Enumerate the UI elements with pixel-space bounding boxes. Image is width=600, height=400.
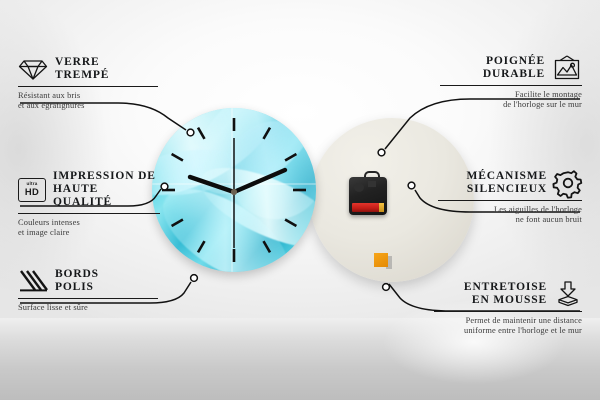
callout-desc-line2: de l'horloge sur le mur [440,100,582,110]
callout-title: IMPRESSION DE HAUTE QUALITÉ [53,170,160,209]
callout-divider [440,85,582,86]
callout-entretoise-en-mousse[interactable]: ENTRETOISE EN MOUSSE Permet de maintenir… [434,281,582,337]
callout-desc-line2: uniforme entre l'horloge et le mur [434,326,582,336]
callout-header: MÉCANISME SILENCIEUX [438,170,582,196]
callout-bords-polis[interactable]: BORDS POLIS Surface lisse et sûre [18,268,158,313]
callout-header: ENTRETOISE EN MOUSSE [434,281,582,307]
callout-dot-poignee[interactable] [378,149,385,156]
ultra-hd-icon-large-text: HD [25,187,39,196]
callout-title: POIGNÉE DURABLE [483,55,545,81]
callout-header: VERRE TREMPÉ [18,56,158,82]
callout-title: MÉCANISME SILENCIEUX [467,170,548,196]
callout-verre-trempe[interactable]: VERRE TREMPÉ Résistant aux bris et aux é… [18,56,158,112]
callout-divider [434,311,582,312]
callout-dot-bords-polis[interactable] [191,275,198,282]
callout-divider [18,213,160,214]
callout-dot-verre-trempe[interactable] [187,129,194,136]
callout-title: ENTRETOISE EN MOUSSE [464,281,547,307]
callout-dot-impression[interactable] [161,183,168,190]
callout-header: BORDS POLIS [18,268,158,294]
callout-title: VERRE TREMPÉ [55,56,109,82]
polished-edges-icon [18,269,48,293]
callout-desc-line1: Facilite le montage [440,90,582,100]
callout-desc-line2: et aux égratignures [18,101,158,111]
callout-header: ultra HD IMPRESSION DE HAUTE QUALITÉ [18,170,160,209]
callout-dot-entretoise[interactable] [383,284,390,291]
diamond-icon [18,57,48,81]
callout-divider [18,298,158,299]
foam-spacer-icon [554,281,582,307]
gear-icon [554,170,582,196]
callout-poignee-durable[interactable]: POIGNÉE DURABLE Facilite le montage de l… [440,55,582,111]
ultra-hd-icon: ultra HD [18,178,46,202]
callout-divider [18,86,158,87]
picture-hanger-icon [552,55,582,81]
infographic-canvas: VERRE TREMPÉ Résistant aux bris et aux é… [0,0,600,400]
callout-header: POIGNÉE DURABLE [440,55,582,81]
callout-desc-line1: Résistant aux bris [18,91,158,101]
callout-desc-line1: Surface lisse et sûre [18,303,158,313]
callout-title: BORDS POLIS [55,268,99,294]
callout-impression-haute-qualite[interactable]: ultra HD IMPRESSION DE HAUTE QUALITÉ Cou… [18,170,160,239]
callout-desc-line1: Permet de maintenir une distance [434,316,582,326]
callout-divider [438,200,582,201]
callout-dot-mecanisme[interactable] [408,182,415,189]
callout-desc-line1: Couleurs intenses [18,218,160,228]
callout-desc-line2: ne font aucun bruit [438,215,582,225]
callout-desc-line1: Les aiguilles de l'horloge [438,205,582,215]
callout-mecanisme-silencieux[interactable]: MÉCANISME SILENCIEUX Les aiguilles de l'… [438,170,582,226]
callout-desc-line2: et image claire [18,228,160,238]
